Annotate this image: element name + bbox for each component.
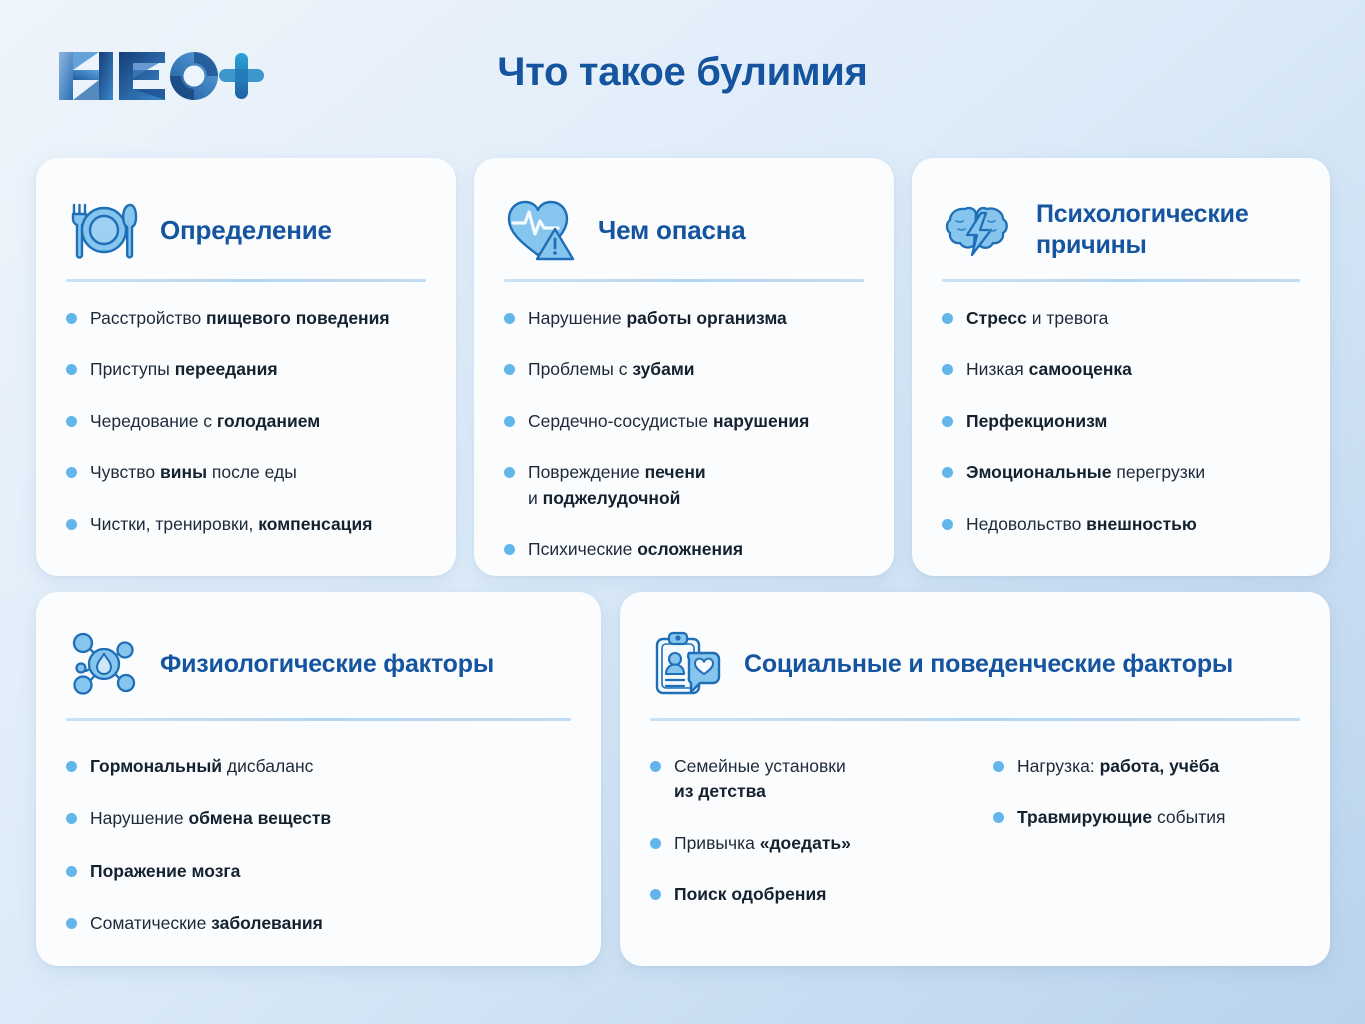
bullet-text-bold: Стресс <box>966 308 1027 328</box>
list-item: Поражение мозга <box>66 859 575 884</box>
bullet-text-bold: голоданием <box>217 411 320 431</box>
bullet-text-plain: Нарушение <box>528 308 626 328</box>
bullet-text-bold: самооценка <box>1029 359 1132 379</box>
card-definition: Определение Расстройство пищевого поведе… <box>36 158 456 576</box>
card-social-behavioral-factors: Социальные и поведенческие факторы Семей… <box>620 592 1330 966</box>
bullet-text-bold: работа, учёба <box>1100 756 1220 776</box>
list-item: Привычка «доедать» <box>650 831 977 856</box>
bullet-dot <box>66 866 77 877</box>
list-item: Расстройство пищевого поведения <box>66 306 430 331</box>
molecule-droplet-icon <box>66 626 142 702</box>
bullet-dot <box>504 467 515 478</box>
bullet-dot <box>66 467 77 478</box>
bullet-text-bold: работы организма <box>626 308 786 328</box>
card-header: Психологические причины <box>912 158 1330 268</box>
bullet-text-bold: переедания <box>175 359 278 379</box>
heart-pulse-warning-icon <box>504 192 580 268</box>
list-item: Сердечно-сосудистые нарушения <box>504 409 868 434</box>
brain-lightning-icon <box>942 192 1018 268</box>
bullet-column-left: Семейные установкииз детства Привычка «д… <box>650 754 977 934</box>
bullet-text-tail: события <box>1152 807 1225 827</box>
bullet-text-tail: дисбаланс <box>222 756 313 776</box>
bullet-text-plain: Низкая <box>966 359 1029 379</box>
bullet-dot <box>942 519 953 530</box>
bullet-text-plain: Чистки, тренировки, <box>90 514 258 534</box>
card-title: Психологические причины <box>1036 199 1300 261</box>
list-item: Поиск одобрения <box>650 882 977 907</box>
bullet-text-bold: нарушения <box>713 411 809 431</box>
bullet-text-bold: компенсация <box>258 514 372 534</box>
list-item: Чистки, тренировки, компенсация <box>66 512 430 537</box>
card-header: Физиологические факторы <box>36 592 601 702</box>
bullet-text-bold: Травмирующие <box>1017 807 1152 827</box>
bullet-list: Стресс и тревога Низкая самооценка Перфе… <box>942 306 1304 563</box>
bullet-dot <box>66 416 77 427</box>
card-title: Чем опасна <box>598 214 746 246</box>
bullet-text-bold: вины <box>160 462 207 482</box>
card-header: Определение <box>36 158 456 268</box>
bullet-dot <box>504 364 515 375</box>
bullet-dot <box>650 761 661 772</box>
card-danger: Чем опасна Нарушение работы организма Пр… <box>474 158 894 576</box>
bullet-text-plain: Соматические <box>90 913 211 933</box>
list-item: Семейные установкииз детства <box>650 754 977 805</box>
bullet-text-tail: и тревога <box>1027 308 1109 328</box>
bullet-dot <box>66 519 77 530</box>
card-physiological-factors: Физиологические факторы Гормональный дис… <box>36 592 601 966</box>
list-item: Повреждение печении поджелудочной <box>504 460 868 511</box>
bullet-text-bold: внешностью <box>1086 514 1197 534</box>
bullet-dot <box>942 467 953 478</box>
bullet-list: Нарушение работы организма Проблемы с зу… <box>504 306 868 588</box>
bullet-text-bold: заболевания <box>211 913 323 933</box>
plate-fork-knife-icon <box>66 192 142 268</box>
list-item: Травмирующие события <box>993 805 1304 830</box>
list-item: Недовольство внешностью <box>942 512 1304 537</box>
bullet-text-tail: перегрузки <box>1112 462 1206 482</box>
bullet-text-plain: Приступы <box>90 359 175 379</box>
list-item: Низкая самооценка <box>942 357 1304 382</box>
card-psychological-causes: Психологические причины Стресс и тревога… <box>912 158 1330 576</box>
bullet-text-plain: Семейные установки <box>674 756 846 776</box>
list-item: Нарушение работы организма <box>504 306 868 331</box>
bullet-text-bold: печени <box>645 462 706 482</box>
bullet-text-plain: Нагрузка: <box>1017 756 1100 776</box>
bullet-text-bold: Поиск одобрения <box>674 884 826 904</box>
list-item: Стресс и тревога <box>942 306 1304 331</box>
bullet-list: Расстройство пищевого поведения Приступы… <box>66 306 430 563</box>
bullet-text-line2-bold: поджелудочной <box>543 488 681 508</box>
bullet-text-plain: Чувство <box>90 462 160 482</box>
bullet-text-plain: Нарушение <box>90 808 188 828</box>
bullet-dot <box>66 364 77 375</box>
list-item: Соматические заболевания <box>66 911 575 936</box>
card-divider <box>650 718 1300 721</box>
bullet-dot <box>993 812 1004 823</box>
bullet-text-bold: обмена веществ <box>188 808 331 828</box>
card-divider <box>66 279 426 282</box>
bullet-dot <box>942 313 953 324</box>
bullet-dot <box>650 838 661 849</box>
bullet-dot <box>942 364 953 375</box>
page-title: Что такое булимия <box>0 50 1365 95</box>
card-title: Социальные и поведенческие факторы <box>744 649 1233 680</box>
bullet-text-bold: Перфекционизм <box>966 411 1107 431</box>
card-header: Социальные и поведенческие факторы <box>620 592 1330 702</box>
bullet-text-tail: после еды <box>207 462 297 482</box>
bullet-text-plain: Психические <box>528 539 637 559</box>
list-item: Чувство вины после еды <box>66 460 430 485</box>
clipboard-heart-chat-icon <box>650 626 726 702</box>
page-header: Что такое булимия <box>0 0 1365 142</box>
bullet-column-right: Нагрузка: работа, учёба Травмирующие соб… <box>977 754 1304 934</box>
bullet-text-plain: Проблемы с <box>528 359 632 379</box>
bullet-text-line2-plain: и <box>528 488 543 508</box>
card-title: Физиологические факторы <box>160 649 494 680</box>
bullet-dot <box>993 761 1004 772</box>
bullet-dot <box>650 889 661 900</box>
list-item: Приступы переедания <box>66 357 430 382</box>
infographic-page: Что такое булимия Определение <box>0 0 1365 1024</box>
bullet-dot <box>504 416 515 427</box>
card-divider <box>504 279 864 282</box>
card-divider <box>66 718 571 721</box>
list-item: Нагрузка: работа, учёба <box>993 754 1304 779</box>
list-item: Психические осложнения <box>504 537 868 562</box>
list-item: Перфекционизм <box>942 409 1304 434</box>
bullet-text-plain: Недовольство <box>966 514 1086 534</box>
bullet-text-bold: осложнения <box>637 539 743 559</box>
card-divider <box>942 279 1300 282</box>
bullet-text-plain: Чередование с <box>90 411 217 431</box>
bullet-text-bold: Гормональный <box>90 756 222 776</box>
bullet-text-line2-bold: из детства <box>674 781 766 801</box>
list-item: Чередование с голоданием <box>66 409 430 434</box>
bullet-dot <box>66 918 77 929</box>
list-item: Эмоциональные перегрузки <box>942 460 1304 485</box>
bullet-text-bold: Поражение мозга <box>90 861 240 881</box>
list-item: Гормональный дисбаланс <box>66 754 575 779</box>
bullet-text-bold: пищевого поведения <box>206 308 390 328</box>
bullet-dot <box>504 544 515 555</box>
bullet-text-bold: «доедать» <box>760 833 851 853</box>
bullet-dot <box>942 416 953 427</box>
bullet-list: Гормональный дисбаланс Нарушение обмена … <box>66 754 575 964</box>
bullet-text-plain: Привычка <box>674 833 760 853</box>
bullet-list: Семейные установкииз детства Привычка «д… <box>650 754 1304 934</box>
card-header: Чем опасна <box>474 158 894 268</box>
bullet-dot <box>66 761 77 772</box>
bullet-text-bold: Эмоциональные <box>966 462 1112 482</box>
bullet-text-plain: Расстройство <box>90 308 206 328</box>
bullet-dot <box>504 313 515 324</box>
bullet-text-plain: Повреждение <box>528 462 645 482</box>
list-item: Проблемы с зубами <box>504 357 868 382</box>
list-item: Нарушение обмена веществ <box>66 806 575 831</box>
bullet-dot <box>66 813 77 824</box>
bullet-dot <box>66 313 77 324</box>
bullet-text-bold: зубами <box>632 359 694 379</box>
card-title: Определение <box>160 214 332 246</box>
bullet-text-plain: Сердечно-сосудистые <box>528 411 713 431</box>
